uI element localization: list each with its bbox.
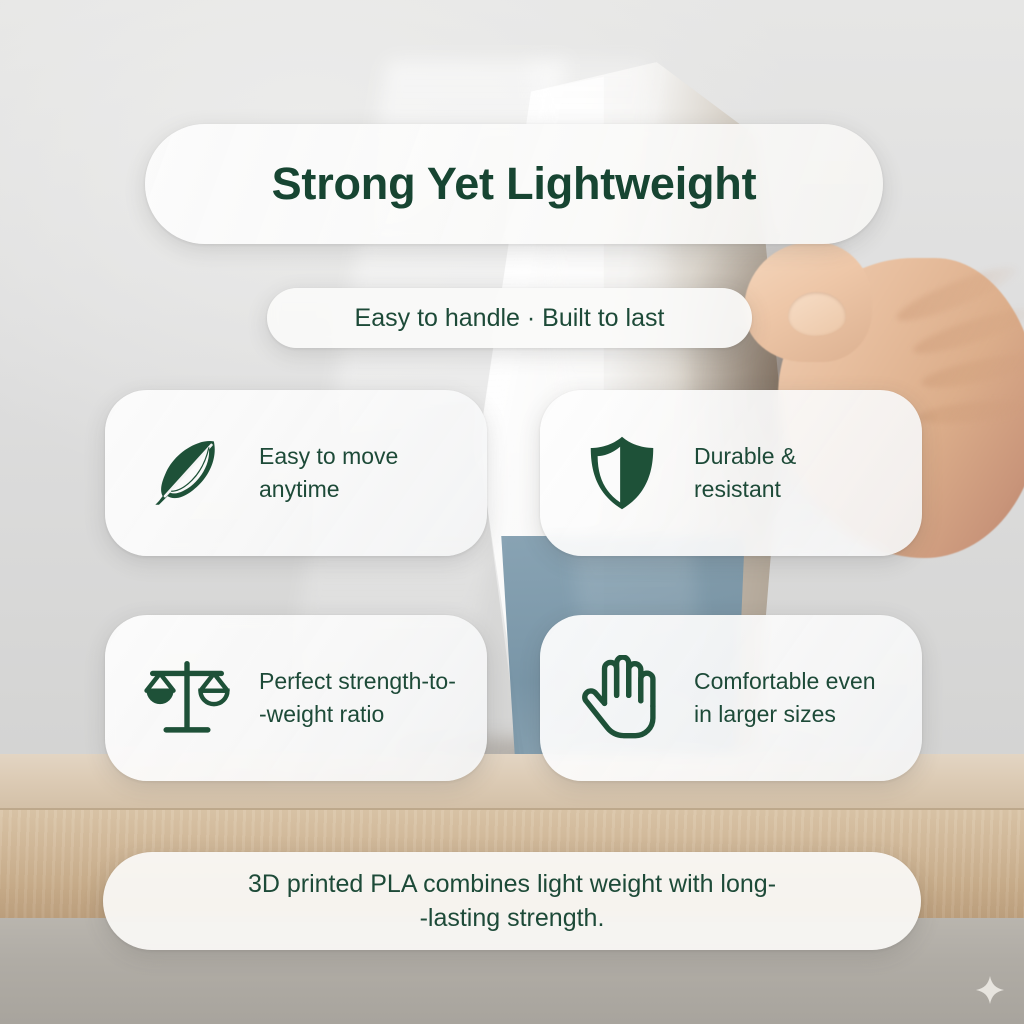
feature-label-line2: anytime <box>259 476 340 502</box>
feature-label-line1: Comfortable even <box>694 668 876 694</box>
footer-caption: 3D printed PLA combines light weight wit… <box>248 867 776 935</box>
poster-canvas: Strong Yet Lightweight Easy to handle · … <box>0 0 1024 1024</box>
raised-hand-icon <box>576 652 668 744</box>
thumb-nail <box>788 292 846 336</box>
feature-card-label: Easy to move anytime <box>259 440 398 505</box>
balance-scale-icon <box>141 652 233 744</box>
feature-label-line1: Durable & <box>694 443 796 469</box>
feature-label-line1: Perfect strength-to- <box>259 668 456 694</box>
feature-card-label: Durable & resistant <box>694 440 796 505</box>
footer-pill: 3D printed PLA combines light weight wit… <box>103 852 921 950</box>
feature-card-label: Comfortable even in larger sizes <box>694 665 876 730</box>
page-title: Strong Yet Lightweight <box>272 158 757 210</box>
feature-card-durable[interactable]: Durable & resistant <box>540 390 922 556</box>
feature-label-line1: Easy to move <box>259 443 398 469</box>
subtitle-pill: Easy to handle · Built to last <box>267 288 752 348</box>
footer-line1: 3D printed PLA combines light weight wit… <box>248 870 776 898</box>
page-subtitle: Easy to handle · Built to last <box>355 304 665 333</box>
shield-icon <box>576 427 668 519</box>
sparkle-icon <box>975 975 1005 1005</box>
feature-label-line2: -weight ratio <box>259 701 384 727</box>
feature-label-line2: resistant <box>694 476 781 502</box>
feature-card-label: Perfect strength-to- -weight ratio <box>259 665 456 730</box>
feature-card-comfortable[interactable]: Comfortable even in larger sizes <box>540 615 922 781</box>
title-pill: Strong Yet Lightweight <box>145 124 883 244</box>
feather-icon <box>141 427 233 519</box>
footer-line2: -lasting strength. <box>420 904 605 932</box>
feature-label-line2: in larger sizes <box>694 701 836 727</box>
feature-card-easy-to-move[interactable]: Easy to move anytime <box>105 390 487 556</box>
feature-card-strength-ratio[interactable]: Perfect strength-to- -weight ratio <box>105 615 487 781</box>
